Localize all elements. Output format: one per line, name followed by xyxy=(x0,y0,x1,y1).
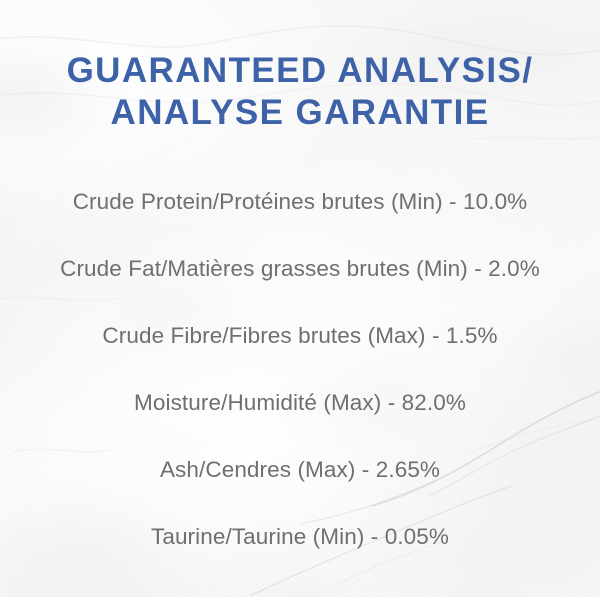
analysis-list: Crude Protein/Protéines brutes (Min) - 1… xyxy=(0,168,600,570)
analysis-row-ash: Ash/Cendres (Max) - 2.65% xyxy=(160,436,440,503)
page-title-line-en: GUARANTEED ANALYSIS/ xyxy=(67,50,534,92)
guaranteed-analysis-panel: GUARANTEED ANALYSIS/ ANALYSE GARANTIE Cr… xyxy=(0,0,600,597)
panel-content: GUARANTEED ANALYSIS/ ANALYSE GARANTIE Cr… xyxy=(0,0,600,597)
analysis-row-taurine: Taurine/Taurine (Min) - 0.05% xyxy=(151,503,449,570)
analysis-row-crude-fat: Crude Fat/Matières grasses brutes (Min) … xyxy=(60,235,540,302)
page-title-line-fr: ANALYSE GARANTIE xyxy=(67,92,534,134)
analysis-row-moisture: Moisture/Humidité (Max) - 82.0% xyxy=(134,369,466,436)
analysis-row-crude-fibre: Crude Fibre/Fibres brutes (Max) - 1.5% xyxy=(102,302,497,369)
page-title: GUARANTEED ANALYSIS/ ANALYSE GARANTIE xyxy=(67,50,534,134)
analysis-row-crude-protein: Crude Protein/Protéines brutes (Min) - 1… xyxy=(73,168,528,235)
